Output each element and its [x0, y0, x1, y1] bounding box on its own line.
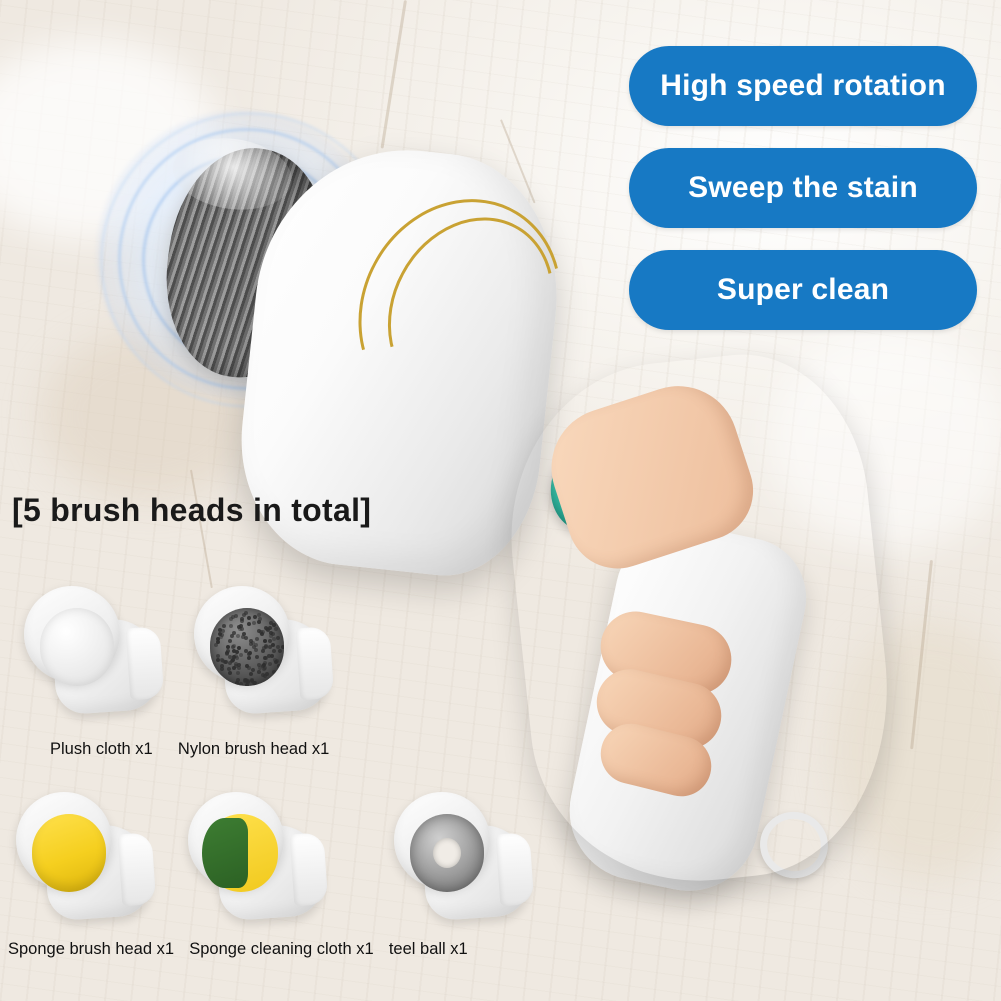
- wall-stain: [40, 330, 260, 500]
- wall-stain: [770, 330, 1001, 550]
- finger: [594, 717, 717, 802]
- accessory-steel-ball[interactable]: [388, 778, 548, 928]
- wall-crack: [381, 0, 407, 149]
- sponge-pad: [32, 814, 106, 892]
- accessory-row-1: [18, 572, 348, 722]
- accessory-nylon-brush[interactable]: [188, 572, 348, 722]
- accessory-row-1-captions: Plush cloth x1 Nylon brush head x1: [50, 740, 329, 759]
- page-title: [5 brush heads in total]: [12, 492, 371, 529]
- brush-disc: [16, 792, 112, 888]
- wall-crack: [500, 119, 536, 203]
- accessory-row-2-captions: Sponge brush head x1 Sponge cleaning clo…: [8, 940, 468, 959]
- hanging-loop: [751, 803, 836, 887]
- product-image: High speed rotation Sweep the stain Supe…: [0, 0, 1001, 1001]
- wall-stain: [830, 620, 1001, 880]
- brush-disc: [194, 586, 290, 682]
- brush-disc: [24, 586, 120, 682]
- badge-high-speed-rotation[interactable]: High speed rotation: [629, 46, 977, 126]
- device-handle: [557, 512, 818, 904]
- caption-steel-ball: teel ball x1: [389, 940, 468, 958]
- finger: [594, 605, 738, 701]
- badge-super-clean[interactable]: Super clean: [629, 250, 977, 330]
- caption-sponge-brush-head: Sponge brush head x1: [8, 940, 174, 958]
- sponge-scour-pad: [204, 814, 278, 892]
- hand: [494, 343, 906, 898]
- power-button[interactable]: [544, 438, 634, 538]
- rotation-swirl: [100, 112, 398, 408]
- steel-wool-pad: [410, 814, 484, 892]
- accessory-sponge-brush[interactable]: [10, 778, 170, 928]
- caption-plush-cloth: Plush cloth x1: [50, 740, 153, 758]
- rotation-swirl: [142, 154, 352, 366]
- accessory-sponge-cleaning-cloth[interactable]: [182, 778, 342, 928]
- motion-glow: [96, 110, 386, 400]
- wall-stain: [0, 40, 220, 240]
- accessory-plush-cloth[interactable]: [18, 572, 178, 722]
- wall-crack: [910, 560, 933, 749]
- feature-badges: High speed rotation Sweep the stain Supe…: [629, 46, 977, 330]
- brush-disc: [394, 792, 490, 888]
- caption-sponge-cleaning-cloth: Sponge cleaning cloth x1: [189, 940, 373, 958]
- badge-sweep-the-stain[interactable]: Sweep the stain: [629, 148, 977, 228]
- brush-head-attached: [153, 138, 343, 388]
- gold-stripe: [320, 163, 599, 455]
- rotation-swirl: [118, 128, 376, 390]
- power-icon: [569, 468, 608, 507]
- finger: [590, 663, 728, 756]
- bristles: [210, 608, 284, 686]
- plush-pad: [40, 608, 114, 686]
- nylon-bristle-pad: [210, 608, 284, 686]
- accessory-row-2: [10, 778, 548, 928]
- caption-nylon-brush-head: Nylon brush head x1: [178, 740, 329, 758]
- brush-disc: [188, 792, 284, 888]
- thumb: [536, 371, 766, 582]
- gold-stripe: [356, 188, 586, 432]
